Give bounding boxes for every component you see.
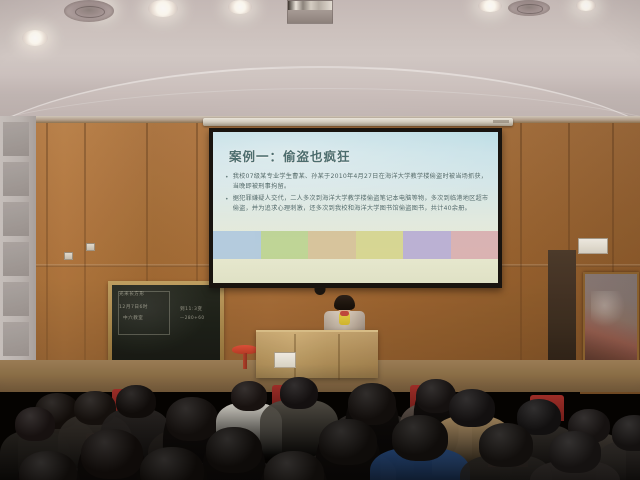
audience-member-head [479, 423, 533, 467]
slide-bullet-list: • 我校07级某专业学生曹某、孙某于2010年4月27日在海洋大学教学楼偷盗时被… [225, 172, 491, 216]
recessed-downlight [22, 30, 48, 46]
audience-member-head [19, 451, 77, 480]
bullet-marker-icon: • [225, 194, 229, 213]
audience-member [244, 451, 344, 480]
wall-panel-seam [520, 123, 522, 386]
recessed-downlight [228, 0, 252, 14]
acoustic-panel-column [0, 116, 36, 386]
recessed-downlight [576, 0, 596, 11]
chalk-text: 光米长方形 [119, 292, 144, 297]
slide-footer-band [213, 259, 498, 283]
recessed-downlight [148, 0, 178, 17]
audience-member-head [392, 415, 448, 461]
projected-slide: 案例一：偷盗也疯狂 • 我校07级某专业学生曹某、孙某于2010年4月27日在海… [213, 132, 498, 283]
ceiling [0, 0, 640, 122]
chalk-text: 到11:3变 [180, 307, 203, 312]
lecture-hall-photo: 光米长方形 12月7日6时 中六教室 到11:3变 —280+60 案例一：偷盗… [0, 0, 640, 480]
slide-color-swatch-5 [451, 231, 499, 259]
projection-screen: 案例一：偷盗也疯狂 • 我校07级某专业学生曹某、孙某于2010年4月27日在海… [209, 128, 502, 288]
ceiling-air-vent [508, 0, 550, 16]
side-doorway[interactable] [548, 250, 576, 370]
slide-color-swatch-3 [356, 231, 404, 259]
audience-member [530, 431, 620, 480]
wall-notice-sign [578, 238, 608, 254]
projector [287, 0, 333, 24]
chalkboard-drawn-box [118, 291, 170, 335]
audience-member-head [549, 431, 601, 473]
presenter-scarf [340, 311, 349, 316]
slide-bullet-text: 据犯罪嫌疑人交代，二人多次到海洋大学教学楼偷盗笔记本电脑等物，多次到临港地区超市… [233, 194, 491, 213]
bullet-marker-icon: • [225, 172, 229, 191]
slide-color-swatch-1 [261, 231, 309, 259]
chalk-text: 12月7日6时 [119, 305, 148, 310]
presenter [322, 295, 366, 335]
acoustic-panel [3, 242, 29, 276]
audience-member-head [264, 451, 324, 480]
screen-roller-casing[interactable] [203, 118, 513, 126]
wall-panel-seam [84, 123, 86, 386]
slide-color-swatch-0 [213, 231, 261, 259]
wall-socket [86, 243, 95, 251]
acoustic-panel [3, 162, 29, 196]
acoustic-panel [3, 322, 29, 356]
slide-color-swatch-2 [308, 231, 356, 259]
audience-member [118, 447, 226, 480]
recessed-downlight [478, 0, 502, 12]
slide-bullet-text: 我校07级某专业学生曹某、孙某于2010年4月27日在海洋大学教学楼偷盗时被当场… [233, 172, 491, 191]
audience-member-head [140, 447, 204, 480]
slide-color-swatches [213, 231, 498, 259]
presenter-hair [334, 295, 355, 310]
chalkboard-surface: 光米长方形 12月7日6时 中六教室 到11:3变 —280+60 [112, 285, 220, 363]
slide-title: 案例一：偷盗也疯狂 [229, 146, 351, 165]
audience-member-head [15, 407, 55, 441]
acoustic-panel [3, 282, 29, 316]
list-item: • 我校07级某专业学生曹某、孙某于2010年4月27日在海洋大学教学楼偷盗时被… [225, 172, 491, 191]
audience [0, 355, 640, 480]
list-item: • 据犯罪嫌疑人交代，二人多次到海洋大学教学楼偷盗笔记本电脑等物，多次到临港地区… [225, 194, 491, 213]
slide-color-swatch-4 [403, 231, 451, 259]
ceiling-air-vent [64, 0, 114, 22]
chalk-text: 中六教室 [123, 316, 143, 321]
acoustic-panel [3, 202, 29, 236]
framed-artwork [583, 272, 639, 368]
audience-member [370, 415, 470, 480]
acoustic-panel [3, 122, 29, 156]
audience-member-head [280, 377, 318, 409]
wall-panel-seam [46, 123, 48, 386]
chalk-text: —280+60 [180, 316, 205, 321]
wall-socket [64, 252, 73, 260]
audience-member [0, 451, 96, 480]
projector-lens-face [288, 1, 332, 10]
